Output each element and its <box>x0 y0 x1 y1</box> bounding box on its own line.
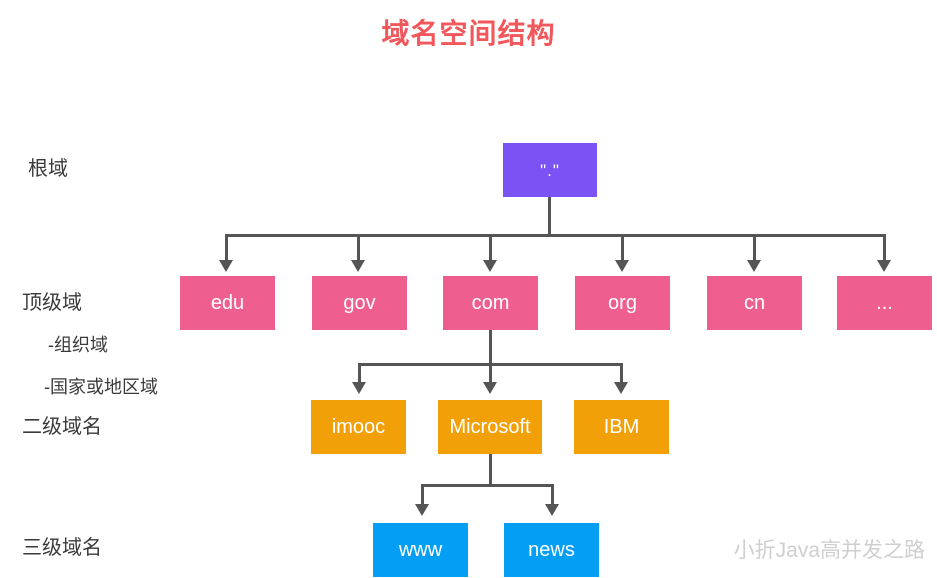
arrowhead-news <box>545 504 559 516</box>
row-label-root-domain: 根域 <box>28 156 68 182</box>
connector-drop-edu <box>225 234 228 262</box>
connector-drop-ellipsis <box>883 234 886 262</box>
page-title: 域名空间结构 <box>0 14 937 54</box>
connector-drop-www <box>421 484 424 506</box>
arrowhead-gov <box>351 260 365 272</box>
arrowhead-edu <box>219 260 233 272</box>
node-second-ibm-label: IBM <box>604 417 640 437</box>
node-tld-com-label: com <box>472 293 510 313</box>
arrowhead-microsoft <box>483 382 497 394</box>
node-tld-gov-label: gov <box>343 293 375 313</box>
node-third-news[interactable]: news <box>504 523 599 577</box>
arrowhead-ellipsis <box>877 260 891 272</box>
connector-drop-imooc <box>358 363 361 384</box>
row-label-country-region-domain: -国家或地区域 <box>44 374 158 400</box>
arrowhead-imooc <box>352 382 366 394</box>
arrowhead-ibm <box>614 382 628 394</box>
connector-drop-news <box>551 484 554 506</box>
connector-drop-com <box>489 234 492 262</box>
connector-top-level-bus <box>225 234 886 237</box>
connector-root-stem <box>548 197 551 236</box>
node-second-imooc-label: imooc <box>332 417 385 437</box>
node-root[interactable]: "." <box>503 143 597 197</box>
connector-third-level-bus <box>421 484 554 487</box>
watermark: 小折Java高并发之路 <box>734 538 925 564</box>
node-second-ibm[interactable]: IBM <box>574 400 669 454</box>
node-tld-org-label: org <box>608 293 637 313</box>
node-third-news-label: news <box>528 540 575 560</box>
connector-drop-gov <box>357 234 360 262</box>
connector-drop-org <box>621 234 624 262</box>
connector-microsoft-stem <box>489 454 492 487</box>
node-second-microsoft-label: Microsoft <box>449 417 530 437</box>
row-label-second-level-domain: 二级域名 <box>22 414 102 440</box>
arrowhead-org <box>615 260 629 272</box>
row-label-top-level-domain: 顶级域 <box>22 290 82 316</box>
node-root-label: "." <box>540 162 560 179</box>
node-tld-edu-label: edu <box>211 293 244 313</box>
node-third-www[interactable]: www <box>373 523 468 577</box>
arrowhead-com <box>483 260 497 272</box>
node-tld-ellipsis-label: ... <box>876 293 893 313</box>
node-second-imooc[interactable]: imooc <box>311 400 406 454</box>
node-tld-com[interactable]: com <box>443 276 538 330</box>
connector-drop-cn <box>753 234 756 262</box>
node-tld-cn[interactable]: cn <box>707 276 802 330</box>
node-tld-cn-label: cn <box>744 293 765 313</box>
arrowhead-cn <box>747 260 761 272</box>
row-label-organization-domain: -组织域 <box>48 332 108 358</box>
node-tld-org[interactable]: org <box>575 276 670 330</box>
connector-com-stem <box>489 330 492 366</box>
connector-drop-ibm <box>620 363 623 384</box>
row-label-third-level-domain: 三级域名 <box>22 535 102 561</box>
node-second-microsoft[interactable]: Microsoft <box>438 400 542 454</box>
node-tld-edu[interactable]: edu <box>180 276 275 330</box>
node-tld-gov[interactable]: gov <box>312 276 407 330</box>
node-tld-ellipsis[interactable]: ... <box>837 276 932 330</box>
node-third-www-label: www <box>399 540 442 560</box>
connector-drop-microsoft <box>489 363 492 384</box>
diagram-canvas: 域名空间结构 根域 顶级域 -组织域 -国家或地区域 二级域名 三级域名 "."… <box>0 0 937 578</box>
arrowhead-www <box>415 504 429 516</box>
